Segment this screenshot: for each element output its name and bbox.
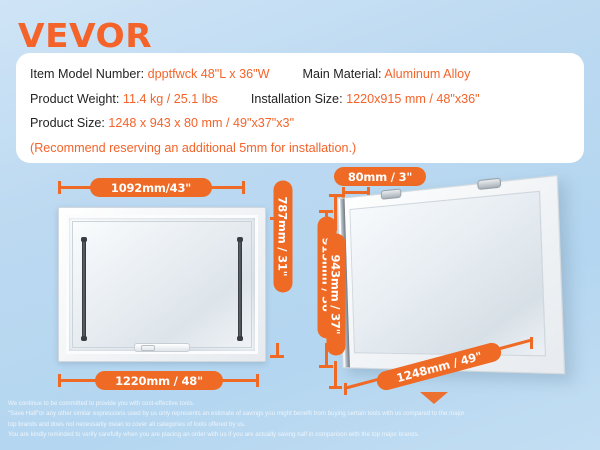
dimension-tick xyxy=(342,191,370,194)
window-glass-panel xyxy=(72,221,252,348)
window-handle xyxy=(134,343,190,352)
product-spec-infographic: VEVOR Item Model Number: dpptfwck 48"L x… xyxy=(0,0,600,450)
window-frame-front xyxy=(58,207,266,362)
spec-label-installation-size: Installation Size: xyxy=(251,92,343,106)
fineprint-line: We continue to be committed to provide y… xyxy=(8,399,594,409)
spec-value-main-material: Aluminum Alloy xyxy=(384,67,470,81)
legal-fineprint: We continue to be committed to provide y… xyxy=(8,399,594,441)
dimension-tick xyxy=(334,361,337,389)
dimension-tick-end xyxy=(58,181,61,194)
side-view-diagram: 80mm / 3" 943mm / 37" 1248mm / 49" xyxy=(322,165,600,400)
fineprint-line: top brands and does not necessarily mean… xyxy=(8,420,594,430)
dimension-tick-end xyxy=(342,187,345,198)
side-height-label: 943mm / 37" xyxy=(327,234,346,356)
side-depth-label: 80mm / 3" xyxy=(334,167,426,186)
window-glass-panel xyxy=(349,191,546,357)
dimension-tick xyxy=(334,195,337,231)
spec-row: Product Size: 1248 x 943 x 80 mm / 49"x3… xyxy=(30,111,584,136)
spec-label-product-size: Product Size: xyxy=(30,116,105,130)
dimension-tick xyxy=(58,379,96,382)
dimension-tick-end xyxy=(58,374,61,387)
spec-value-installation-size: 1220x915 mm / 48"x36" xyxy=(346,92,480,106)
front-inner-height-label: 787mm / 31" xyxy=(274,181,293,293)
spec-row: Product Weight: 11.4 kg / 25.1 lbs Insta… xyxy=(30,87,584,112)
dimension-tick-end xyxy=(329,386,342,389)
window-sash xyxy=(66,215,258,354)
dimension-tick xyxy=(58,186,94,189)
dimension-tick xyxy=(276,218,279,232)
spec-value-product-weight: 11.4 kg / 25.1 lbs xyxy=(123,92,218,106)
dimension-tick xyxy=(344,378,379,390)
dimension-tick xyxy=(220,379,258,382)
fineprint-line: "Save Half"or any other similar expressi… xyxy=(8,409,594,419)
dimension-tick-end xyxy=(270,355,284,358)
spec-label-product-weight: Product Weight: xyxy=(30,92,119,106)
front-top-dimension-label: 1092mm/43" xyxy=(90,178,212,197)
fineprint-line: You are kindly reminded to verify carefu… xyxy=(8,430,594,440)
dimension-tick-end xyxy=(270,217,284,220)
spec-label-item-model-number: Item Model Number: xyxy=(30,67,144,81)
dimension-tick xyxy=(208,186,244,189)
dimension-tick-end xyxy=(329,194,342,197)
dimension-tick-end xyxy=(344,383,347,395)
specification-card: Item Model Number: dpptfwck 48"L x 36"W … xyxy=(16,53,584,163)
hinge-icon xyxy=(477,178,501,190)
gas-strut-right-icon xyxy=(238,240,242,338)
gas-strut-left-icon xyxy=(82,240,86,338)
spec-value-item-model-number: dpptfwck 48"L x 36"W xyxy=(148,67,270,81)
dimension-tick-end xyxy=(242,181,245,194)
spec-label-main-material: Main Material: xyxy=(302,67,381,81)
dimension-tick-end xyxy=(530,337,533,349)
spec-row: Item Model Number: dpptfwck 48"L x 36"W … xyxy=(30,62,584,87)
hinge-icon xyxy=(381,188,402,199)
vevor-logo: VEVOR xyxy=(18,19,152,52)
spec-value-product-size: 1248 x 943 x 80 mm / 49"x37"x3" xyxy=(108,116,294,130)
front-view-diagram: 1092mm/43" 787mm / 31" 915mm / 36" 1220m… xyxy=(30,175,315,395)
installation-note: (Recommend reserving an additional 5mm f… xyxy=(30,136,584,161)
dimension-tick-end xyxy=(256,374,259,387)
front-bottom-dimension-label: 1220mm / 48" xyxy=(95,371,223,390)
